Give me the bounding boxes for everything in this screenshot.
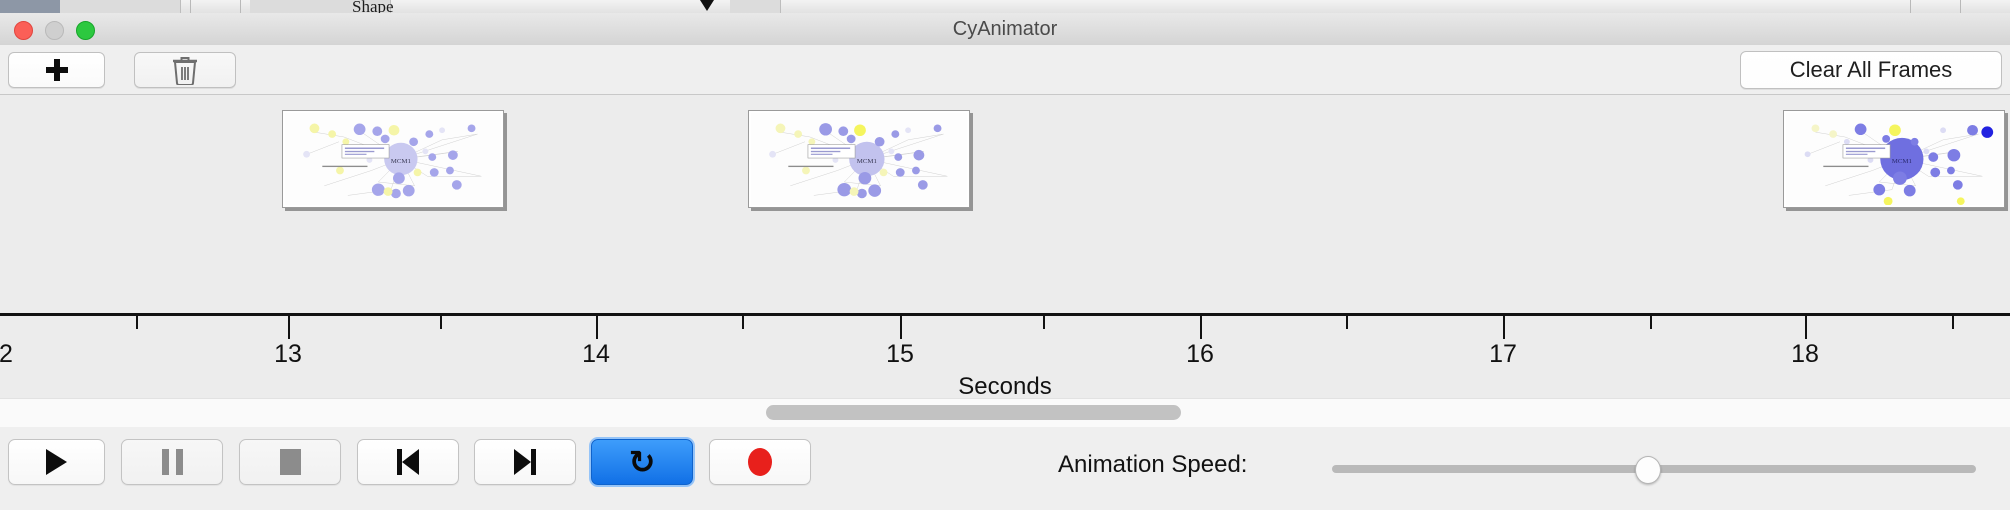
background-window-strip: Shape — [0, 0, 2010, 13]
playback-bar: ↻ Animation Speed: — [0, 427, 2010, 510]
bg-divider-1 — [190, 0, 191, 13]
play-button[interactable] — [8, 439, 105, 485]
ruler-minor-tick — [136, 316, 138, 329]
title-bar: CyAnimator — [0, 13, 2010, 46]
svg-text:MCM1: MCM1 — [391, 158, 411, 165]
ruler-major-tick — [1805, 316, 1807, 339]
delete-frame-button[interactable] — [134, 52, 236, 88]
timeline-scrollbar-thumb[interactable] — [766, 405, 1181, 420]
record-button[interactable] — [709, 439, 811, 485]
svg-text:MCM1: MCM1 — [857, 158, 877, 165]
stop-button[interactable] — [239, 439, 341, 485]
ruler-minor-tick — [1346, 316, 1348, 329]
network-thumbnail-pale: MCM1 — [751, 113, 967, 205]
bg-divider-2 — [240, 0, 241, 13]
ruler-label: 18 — [1791, 340, 1819, 369]
bg-window-label: Shape — [352, 0, 394, 13]
timeline-frame-thumbnail[interactable]: MCM1 — [1783, 110, 2005, 208]
timeline-frame-thumbnail[interactable]: MCM1 — [748, 110, 970, 208]
loop-icon: ↻ — [629, 446, 656, 478]
ruler-major-tick — [596, 316, 598, 339]
plus-icon — [45, 58, 69, 82]
bg-chip-3 — [730, 0, 781, 13]
ruler-label: 16 — [1186, 340, 1214, 369]
bg-chip-dark — [0, 0, 61, 13]
ruler-label: 2 — [0, 340, 13, 369]
ruler-label: 14 — [582, 340, 610, 369]
window-title: CyAnimator — [0, 13, 2010, 45]
ruler-axis-title: Seconds — [0, 373, 2010, 401]
svg-text:MCM1: MCM1 — [1892, 158, 1912, 165]
loop-button[interactable]: ↻ — [591, 439, 693, 485]
skip-previous-icon — [397, 449, 419, 475]
play-icon — [46, 449, 67, 475]
bg-divider-4 — [1960, 0, 1961, 13]
network-thumbnail-pale: MCM1 — [285, 113, 501, 205]
stop-icon — [280, 449, 301, 475]
ruler-major-tick — [288, 316, 290, 339]
timeline-canvas[interactable]: MCM1 — [0, 95, 2010, 315]
clear-all-frames-button[interactable]: Clear All Frames — [1740, 51, 2002, 89]
bg-chip-1 — [60, 0, 181, 13]
ruler-major-tick — [1200, 316, 1202, 339]
skip-to-start-button[interactable] — [357, 439, 459, 485]
timeline-ruler[interactable]: 2 13 14 15 16 17 18 Seconds — [0, 313, 2010, 398]
timeline-scrollbar-track[interactable] — [0, 398, 2010, 428]
bg-wedge-icon — [700, 0, 714, 11]
ruler-minor-tick — [440, 316, 442, 329]
ruler-minor-tick — [1043, 316, 1045, 329]
ruler-label: 17 — [1489, 340, 1517, 369]
ruler-major-tick — [900, 316, 902, 339]
ruler-axis-line — [0, 313, 2010, 316]
cyanimator-window: Shape CyAnimator Clear All Frames — [0, 0, 2010, 510]
record-icon — [748, 448, 772, 476]
ruler-minor-tick — [742, 316, 744, 329]
toolbar: Clear All Frames — [0, 45, 2010, 95]
add-frame-button[interactable] — [8, 52, 105, 88]
animation-speed-slider-thumb[interactable] — [1635, 456, 1661, 484]
ruler-minor-tick — [1650, 316, 1652, 329]
ruler-major-tick — [1503, 316, 1505, 339]
ruler-label: 15 — [886, 340, 914, 369]
animation-speed-slider-track[interactable] — [1332, 465, 1976, 473]
skip-to-end-button[interactable] — [474, 439, 576, 485]
skip-next-icon — [514, 449, 536, 475]
pause-button[interactable] — [121, 439, 223, 485]
animation-speed-label: Animation Speed: — [1058, 451, 1247, 479]
trash-icon — [172, 55, 198, 85]
timeline-frame-thumbnail[interactable]: MCM1 — [282, 110, 504, 208]
pause-icon — [162, 449, 183, 475]
ruler-label: 13 — [274, 340, 302, 369]
network-thumbnail-bold: MCM1 — [1786, 113, 2002, 205]
ruler-minor-tick — [1952, 316, 1954, 329]
bg-divider-3 — [1910, 0, 1911, 13]
